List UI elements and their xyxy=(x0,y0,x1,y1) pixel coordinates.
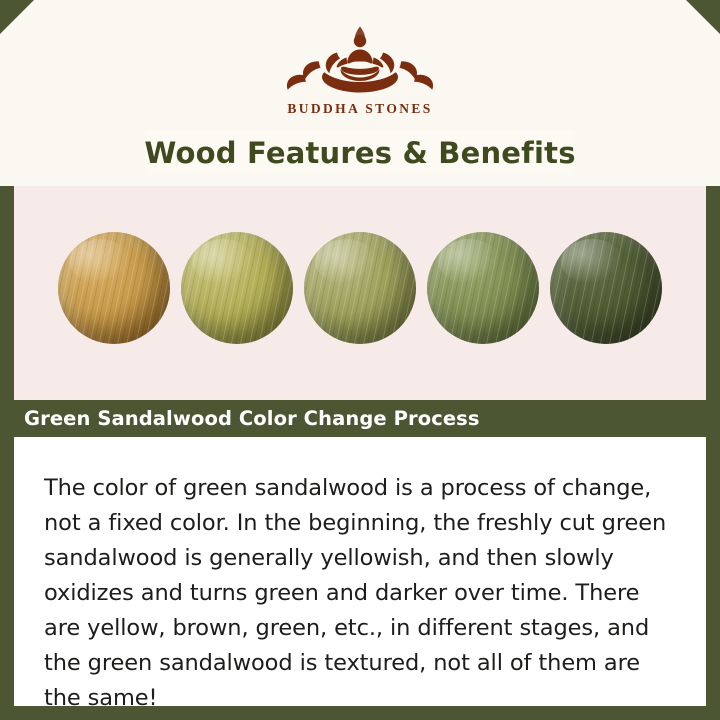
bead-stage-2 xyxy=(181,232,293,344)
bead-highlight xyxy=(192,239,254,284)
section-band-label: Green Sandalwood Color Change Process xyxy=(0,407,480,430)
poster-frame: BUDDHA STONES Wood Features & Benefits xyxy=(0,0,720,720)
bead-showcase xyxy=(14,186,706,400)
bead-stage-3 xyxy=(304,232,416,344)
page-title: Wood Features & Benefits xyxy=(144,136,575,170)
bead-highlight xyxy=(438,239,500,284)
bead-highlight xyxy=(69,239,131,284)
description-panel: The color of green sandalwood is a proce… xyxy=(14,437,706,706)
bead-highlight xyxy=(315,239,377,284)
bead-stage-1 xyxy=(58,232,170,344)
bead-stage-4 xyxy=(427,232,539,344)
description-paragraph: The color of green sandalwood is a proce… xyxy=(44,471,682,716)
brand-logo: BUDDHA STONES xyxy=(0,24,720,117)
brand-name: BUDDHA STONES xyxy=(287,101,432,117)
section-band: Green Sandalwood Color Change Process xyxy=(0,400,520,437)
bead-highlight xyxy=(561,239,623,284)
page-title-bar: Wood Features & Benefits xyxy=(145,130,575,175)
lotus-buddha-icon xyxy=(275,24,445,96)
bead-row xyxy=(14,232,706,344)
bead-stage-5 xyxy=(550,232,662,344)
